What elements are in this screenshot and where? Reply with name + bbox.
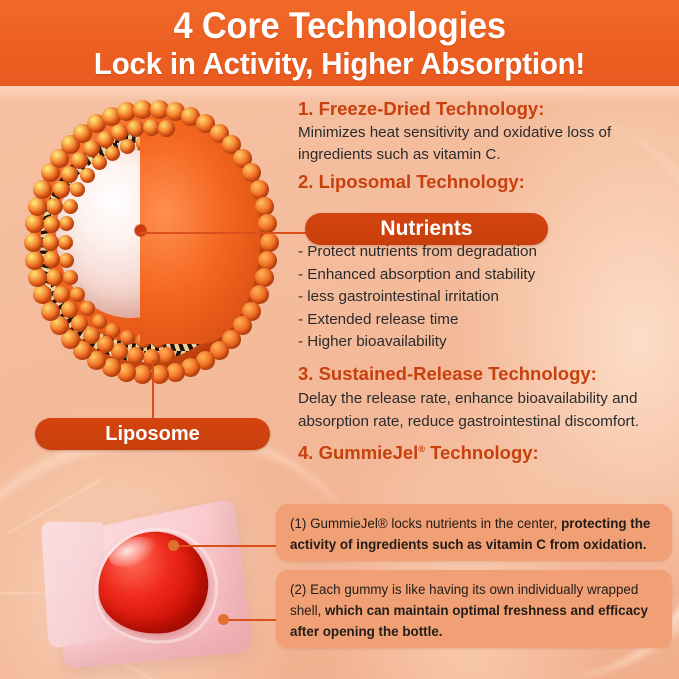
header-banner: 4 Core Technologies Lock in Activity, Hi… [0, 0, 679, 86]
phospholipid-head [105, 146, 120, 161]
phospholipid-head [25, 214, 44, 233]
phospholipid-head [80, 168, 95, 183]
list-item: - Extended release time [298, 309, 670, 332]
liposome-label-pill: Liposome [35, 418, 270, 450]
callout-box-2: (2) Each gummy is like having its own in… [276, 570, 672, 648]
section-4-heading: 4. GummieJel® Technology: [298, 437, 670, 465]
phospholipid-head [28, 197, 47, 216]
phospholipid-head [127, 347, 144, 364]
phospholipid-head [63, 199, 78, 214]
liposomal-benefits-list: - Protect nutrients from degradation - E… [298, 241, 670, 354]
callout-1-regular: (1) GummieJel® locks nutrients in the ce… [290, 516, 561, 531]
callout-2-connector-line [228, 619, 278, 621]
connector-nutrients [140, 232, 308, 234]
phospholipid-head [258, 214, 277, 233]
phospholipid-head [127, 120, 144, 137]
connector-liposome [152, 360, 154, 418]
phospholipid-head [255, 197, 274, 216]
list-item: - Enhanced absorption and stability [298, 264, 670, 287]
registered-trademark-icon: ® [418, 444, 425, 454]
phospholipid-head [143, 349, 160, 366]
gummy-illustration [30, 500, 270, 670]
section-3-heading: 3. Sustained-Release Technology: [298, 361, 670, 386]
infographic-page: 4 Core Technologies Lock in Activity, Hi… [0, 0, 679, 679]
phospholipid-head [59, 253, 74, 268]
phospholipid-head [24, 233, 43, 252]
phospholipid-head [92, 314, 107, 329]
callout-2-bold: which can maintain optimal freshness and… [290, 603, 648, 639]
list-item: - Higher bioavailability [298, 331, 670, 354]
section-1-body: Minimizes heat sensitivity and oxidative… [298, 122, 670, 165]
phospholipid-head [53, 181, 70, 198]
phospholipid-head [250, 180, 269, 199]
phospholipid-head [33, 180, 52, 199]
list-item: - less gastrointestinal irritation [298, 286, 670, 309]
phospholipid-head [25, 251, 44, 270]
phospholipid-head [260, 233, 279, 252]
phospholipid-head [58, 235, 73, 250]
header-title-line1: 4 Core Technologies [173, 6, 505, 46]
liposome-illustration [22, 98, 280, 388]
phospholipid-head [143, 119, 160, 136]
liposome-label-text: Liposome [105, 423, 199, 446]
phospholipid-head [53, 286, 70, 303]
section-3-body: Delay the release rate, enhance bioavail… [298, 387, 670, 433]
phospholipid-head [71, 315, 88, 332]
list-item: - Protect nutrients from degradation [298, 241, 670, 264]
section-4-heading-suffix: Technology: [425, 442, 539, 463]
section-2-heading: 2. Liposomal Technology: [298, 169, 670, 194]
section-1-heading: 1. Freeze-Dried Technology: [298, 96, 670, 121]
phospholipid-head [41, 302, 60, 321]
nutrients-connector-dot [135, 225, 146, 236]
phospholipid-head [42, 234, 59, 251]
phospholipid-head [133, 365, 152, 384]
phospholipid-head [258, 251, 277, 270]
header-title-line2: Lock in Activity, Higher Absorption! [94, 47, 585, 81]
callout-1-connector-line [178, 545, 278, 547]
callout-box-1: (1) GummieJel® locks nutrients in the ce… [276, 504, 672, 561]
phospholipid-head [61, 166, 78, 183]
section-4-heading-prefix: 4. GummieJel [298, 442, 418, 463]
technology-list: 1. Freeze-Dried Technology: Minimizes he… [298, 96, 670, 466]
phospholipid-head [70, 287, 85, 302]
phospholipid-head [43, 216, 60, 233]
phospholipid-head [61, 301, 78, 318]
callout-1-connector-dot [168, 540, 179, 551]
callout-2-connector-dot [218, 614, 229, 625]
